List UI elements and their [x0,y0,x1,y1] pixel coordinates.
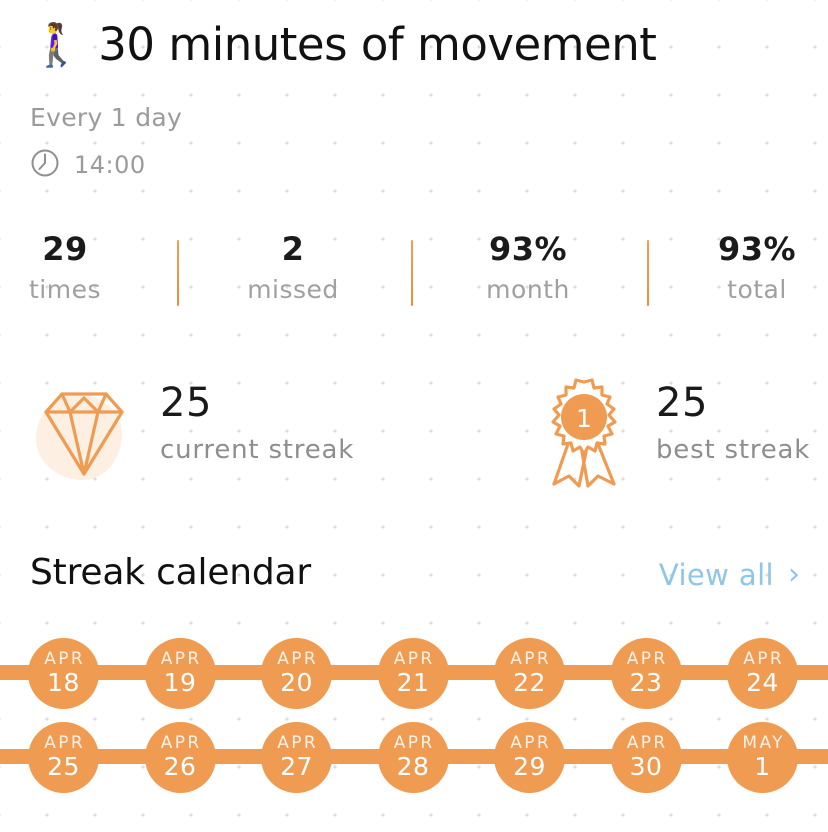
repeat-frequency-label: Every 1 day [30,103,182,132]
stat-label: times [0,270,155,310]
calendar-day-number: 1 [754,753,770,781]
calendar-day-month: MAY [740,734,785,753]
streak-calendar-grid: APR18APR19APR20APR21APR22APR23APR24 APR2… [0,630,828,810]
view-all-button[interactable]: View all › [659,558,800,592]
svg-text:1: 1 [576,404,592,433]
page-title: 30 minutes of movement [98,18,656,71]
calendar-day-apr-27[interactable]: APR27 [261,722,332,793]
stat-total: 93% total [667,228,828,310]
calendar-day-month: APR [508,650,551,669]
calendar-day-apr-21[interactable]: APR21 [378,638,449,709]
calendar-day-number: 26 [164,753,197,781]
streak-calendar-row: APR18APR19APR20APR21APR22APR23APR24 [0,630,828,716]
person-walking-emoji: 🚶‍♀️ [30,24,82,66]
stat-missed: 2 missed [203,228,383,310]
calendar-day-apr-24[interactable]: APR24 [727,638,798,709]
stat-value: 2 [203,228,383,270]
streak-calendar-title: Streak calendar [30,552,311,593]
stat-divider [647,240,649,306]
award-ribbon-icon: 1 [532,370,636,488]
calendar-day-month: APR [158,650,201,669]
calendar-day-apr-30[interactable]: APR30 [611,722,682,793]
streak-calendar-row: APR25APR26APR27APR28APR29APR30MAY1 [0,714,828,800]
calendar-day-may-1[interactable]: MAY1 [727,722,798,793]
stat-divider [177,240,179,306]
calendar-day-month: APR [275,650,318,669]
calendar-day-number: 27 [280,753,313,781]
calendar-day-apr-28[interactable]: APR28 [378,722,449,793]
diamond-icon [32,370,136,488]
stat-label: total [667,270,828,310]
current-streak-texts: 25 current streak [160,370,354,472]
calendar-day-month: APR [275,734,318,753]
calendar-day-month: APR [391,650,434,669]
habit-header: 🚶‍♀️ 30 minutes of movement [30,18,656,71]
current-streak-value: 25 [160,378,354,428]
current-streak-label: current streak [160,428,354,472]
stat-label: month [438,270,618,310]
current-streak-card: 25 current streak [32,370,354,488]
calendar-day-number: 22 [513,669,546,697]
stat-value: 93% [438,228,618,270]
calendar-day-apr-20[interactable]: APR20 [261,638,332,709]
calendar-day-apr-29[interactable]: APR29 [494,722,565,793]
calendar-day-apr-23[interactable]: APR23 [611,638,682,709]
streak-calendar-header: Streak calendar View all › [0,552,828,606]
calendar-day-month: APR [158,734,201,753]
stat-divider [411,240,413,306]
best-streak-value: 25 [656,378,810,428]
stat-value: 93% [667,228,828,270]
calendar-day-number: 30 [630,753,663,781]
stat-times: 29 times [0,228,155,310]
view-all-label: View all [659,558,774,592]
calendar-day-number: 19 [164,669,197,697]
calendar-day-number: 21 [397,669,430,697]
calendar-day-apr-26[interactable]: APR26 [145,722,216,793]
calendar-day-apr-19[interactable]: APR19 [145,638,216,709]
calendar-day-number: 24 [746,669,779,697]
calendar-day-number: 23 [630,669,663,697]
calendar-day-month: APR [508,734,551,753]
stat-value: 29 [0,228,155,270]
calendar-day-month: APR [42,734,85,753]
calendar-day-number: 18 [47,669,80,697]
calendar-day-number: 20 [280,669,313,697]
best-streak-card: 1 25 best streak [532,370,810,488]
calendar-day-number: 28 [397,753,430,781]
calendar-day-month: APR [741,650,784,669]
calendar-day-month: APR [624,650,667,669]
calendar-day-apr-25[interactable]: APR25 [28,722,99,793]
stat-label: missed [203,270,383,310]
calendar-day-month: APR [624,734,667,753]
calendar-day-apr-22[interactable]: APR22 [494,638,565,709]
calendar-day-month: APR [391,734,434,753]
calendar-day-month: APR [42,650,85,669]
calendar-day-number: 29 [513,753,546,781]
best-streak-texts: 25 best streak [656,370,810,472]
stat-month: 93% month [438,228,618,310]
calendar-day-apr-18[interactable]: APR18 [28,638,99,709]
chevron-right-icon: › [788,560,800,590]
streak-summary: 25 current streak 1 25 best streak [0,370,828,510]
reminder-time-value: 14:00 [74,151,146,179]
reminder-time-row: 14:00 [30,148,146,182]
calendar-day-number: 25 [47,753,80,781]
clock-icon [30,148,60,182]
stats-row: 29 times 2 missed 93% month 93% total [0,228,828,328]
habit-detail-screen: 🚶‍♀️ 30 minutes of movement Every 1 day … [0,0,828,832]
best-streak-label: best streak [656,428,810,472]
